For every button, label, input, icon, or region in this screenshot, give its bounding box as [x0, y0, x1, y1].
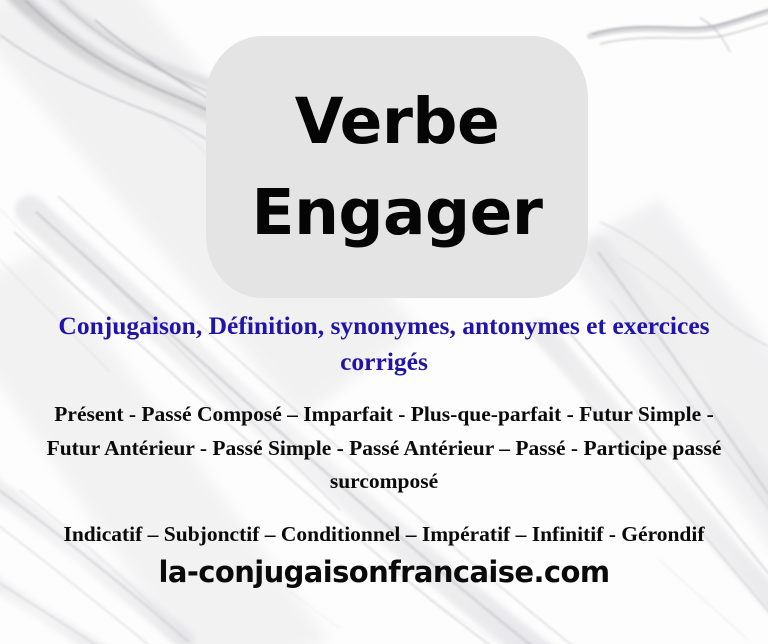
mood-list-text: Indicatif – Subjonctif – Conditionnel – …: [0, 518, 768, 551]
tense-list-text: Présent - Passé Composé – Imparfait - Pl…: [0, 398, 768, 498]
title-word-engager: Engager: [252, 181, 543, 244]
subtitle-text: Conjugaison, Définition, synonymes, anto…: [0, 308, 768, 380]
content-stack: Conjugaison, Définition, synonymes, anto…: [0, 308, 768, 590]
website-url[interactable]: la-conjugaisonfrancaise.com: [0, 554, 768, 590]
title-word-verbe: Verbe: [295, 90, 499, 153]
title-card-inner: Verbe Engager: [206, 36, 588, 298]
title-card: Verbe Engager: [206, 36, 588, 298]
poster-canvas: Verbe Engager Conjugaison, Définition, s…: [0, 0, 768, 644]
